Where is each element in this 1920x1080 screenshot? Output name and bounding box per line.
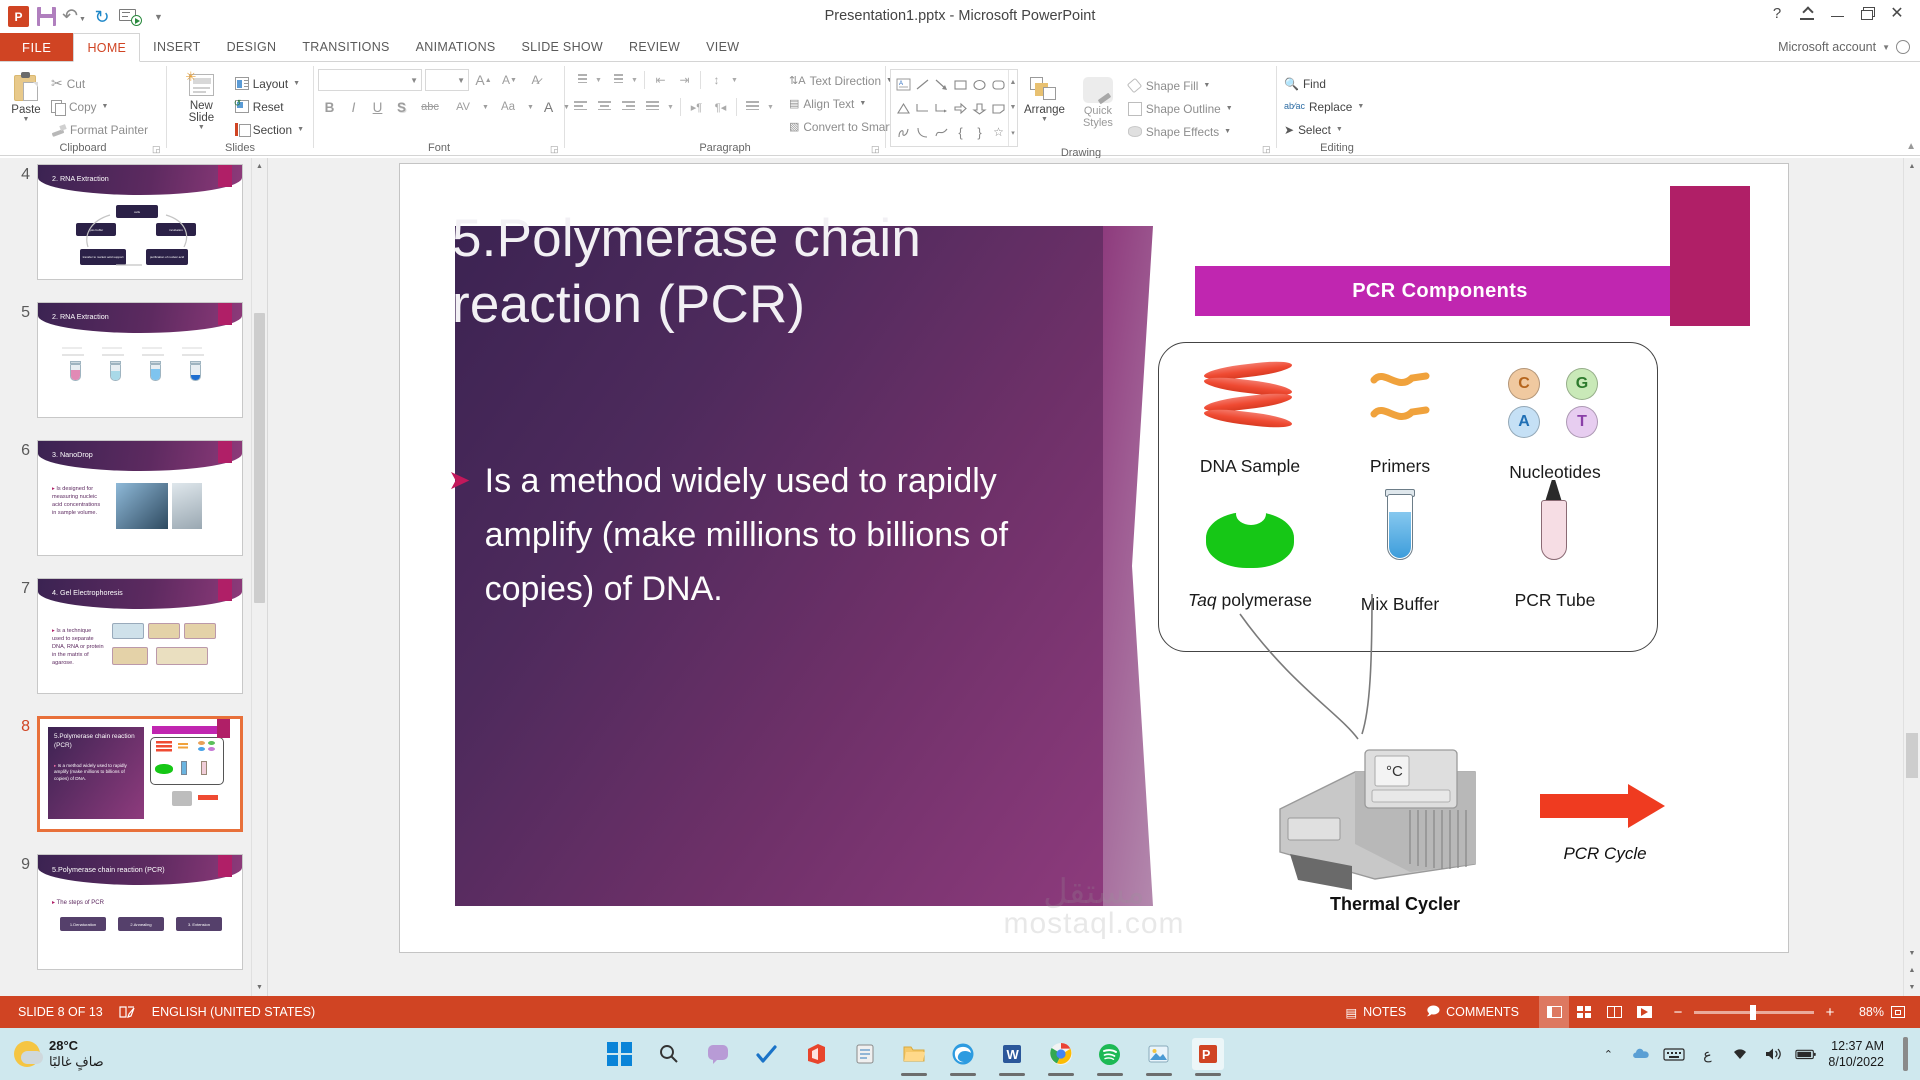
taskbar: 28°C صافٍ غالبًا [0,1028,1920,1080]
comments-label: COMMENTS [1446,1005,1519,1019]
notes-icon: ▤ [1345,1005,1357,1020]
shape-fill-label: Shape Fill [1146,79,1198,93]
comments-button[interactable]: 🗩 COMMENTS [1416,996,1529,1028]
slide-number: 7 [8,578,30,598]
normal-view-button[interactable] [1539,996,1569,1028]
step-box: 2.Annealing [118,917,164,931]
grow-font-button[interactable]: A▲ [472,69,495,91]
language-indicator[interactable]: ع [1696,1043,1718,1065]
slide-thumbnail[interactable]: 5.Polymerase chain reaction (PCR) ▸ The … [37,854,243,970]
copy-icon [51,100,65,114]
thermal-cycler-label: Thermal Cycler [1260,894,1530,915]
chevron-down-icon: ▼ [457,76,465,85]
quick-styles-icon [1083,77,1113,103]
proofing-icon[interactable] [113,996,142,1028]
thumbnail-row[interactable]: 9 5.Polymerase chain reaction (PCR) ▸ Th… [0,854,251,970]
shape-effects-icon [1128,126,1142,137]
thumbnail-row[interactable]: 8 5.Polymerase chain reaction (PCR) ▸ Is… [0,716,251,832]
shapes-gallery-scrollbar[interactable]: ▲ ▼ ▾ [1008,70,1017,146]
reset-button[interactable]: ↺ Reset [232,95,309,118]
scroll-up-icon[interactable]: ▲ [1904,158,1920,175]
slide-number: 6 [8,440,30,460]
find-label: Find [1303,77,1326,91]
section-label: Section [253,123,292,137]
elbow-arrow-connector-shape[interactable] [932,96,951,120]
shape-fill-button[interactable]: Shape Fill ▼ [1125,74,1238,97]
left-to-right-icon[interactable]: ▸¶ [685,96,708,118]
onedrive-icon[interactable] [1630,1043,1652,1065]
chevron-down-icon: ▼ [198,124,205,131]
chevron-down-icon: ▼ [410,76,418,85]
layout-button[interactable]: Layout ▼ [232,72,309,95]
chevron-down-icon: ▼ [293,80,300,87]
copy-label: Copy [69,100,97,114]
sticky-notes-icon[interactable] [849,1038,881,1070]
chevron-down-icon: ▼ [859,100,866,107]
thumbnail-bullet: ▸ Is designed for measuring nucleic acid… [52,485,106,517]
paste-button[interactable]: Paste ▼ [4,66,48,123]
zoom-control[interactable]: − + 88% [1659,1004,1884,1021]
copy-button[interactable]: Copy ▼ [48,95,153,118]
chevron-down-icon: ▼ [1357,103,1364,110]
title-bar: P ↶▼ ↻ ▼ Presentation1.pptx - Microsoft … [0,0,1920,33]
system-tray: ⌃ ع 12:37 AM 8/10/2022 [1597,1037,1920,1071]
step-box: 3. Extension [176,917,222,931]
arrow-bullet-icon: ➤ [448,454,471,616]
chevron-down-icon[interactable]: ▼ [525,96,536,118]
ribbon-group-paragraph: ▼ ▼ ⇤ ⇥ ↕ ▼ ▼ [565,62,885,156]
chevron-down-icon: ▼ [1226,105,1233,112]
font-dialog-launcher[interactable]: ◲ [550,144,561,155]
zoom-slider-handle[interactable] [1750,1005,1756,1020]
arrange-icon [1030,77,1058,102]
search-icon[interactable] [653,1038,685,1070]
bullets-icon[interactable] [569,69,592,91]
reading-view-icon [1607,1006,1622,1018]
scroll-down-icon[interactable]: ▼ [252,979,267,996]
slide-bullet-text: Is a method widely used to rapidly ampli… [485,454,1048,616]
help-icon[interactable]: ? [1762,0,1792,26]
ribbon-group-clipboard: Paste ▼ ✂ Cut Copy ▼ Format Pai [0,62,166,156]
windows-start-icon[interactable] [604,1038,636,1070]
powerpoint-icon[interactable]: P [1192,1038,1224,1070]
office-icon[interactable] [800,1038,832,1070]
italic-button[interactable]: I [342,96,365,118]
slide-show-icon [1637,1006,1652,1018]
chevron-down-icon[interactable]: ▼ [765,96,776,118]
tab-insert[interactable]: INSERT [140,33,213,61]
slide-title[interactable]: 5.Polymerase chain reaction (PCR) [452,206,1012,338]
account-menu[interactable]: Microsoft account ▼ [1778,33,1920,61]
drawing-dialog-launcher[interactable]: ◲ [1262,144,1273,155]
current-slide[interactable]: 5.Polymerase chain reaction (PCR) ➤ Is a… [399,163,1789,953]
text-box-shape[interactable]: A [894,72,913,96]
google-chrome-icon[interactable] [1045,1038,1077,1070]
save-icon[interactable] [33,4,59,30]
font-group-title: Font [314,142,564,156]
file-explorer-icon[interactable] [898,1038,930,1070]
scroll-up-icon[interactable]: ▲ [252,158,267,175]
thumbnail-row[interactable]: 4 2. RNA Extraction cells lysis buffer i… [0,164,251,280]
text-direction-icon: ⇅A [789,74,806,87]
tab-slide-show[interactable]: SLIDE SHOW [509,33,617,61]
down-arrow-shape[interactable] [970,96,989,120]
clipboard-dialog-launcher[interactable]: ◲ [152,144,163,155]
scroll-up-icon[interactable]: ▲ [1009,70,1017,95]
triangle-shape[interactable] [894,96,913,120]
thumbnail-bullet: ▸ Is a technique used to separate DNA, R… [52,627,104,667]
status-bar-right: ▤ NOTES 🗩 COMMENTS − + 88% [1335,996,1912,1028]
strikethrough-button[interactable]: abc [414,96,446,118]
thumbnail-bullet: ▸ The steps of PCR [52,899,172,907]
star-shape[interactable]: ☆ [989,120,1008,144]
step-box: 1.Denaturation [60,917,106,931]
slide-thumbnail[interactable]: 2. RNA Extraction cells lysis buffer inc… [37,164,243,280]
paste-icon [12,72,40,102]
notification-center-icon[interactable] [1903,1037,1908,1071]
chevron-down-icon: ▼ [102,103,109,110]
scrollbar-thumb[interactable] [1906,733,1918,778]
redo-icon[interactable]: ↻ [89,4,115,30]
clock-date: 8/10/2022 [1828,1054,1884,1070]
shape-effects-button[interactable]: Shape Effects ▼ [1125,120,1238,143]
photos-icon[interactable] [1143,1038,1175,1070]
new-slide-icon: ✳ [186,72,216,98]
weather-temperature: 28°C [49,1038,104,1054]
ribbon-tabs: FILE HOME INSERT DESIGN TRANSITIONS ANIM… [0,33,1920,61]
left-brace-shape[interactable]: { [951,120,970,144]
quick-styles-button[interactable]: Quick Styles [1071,69,1125,129]
ribbon-group-slides: ✳ New Slide ▼ Layout ▼ ↺ Reset [167,62,313,156]
align-text-icon: ▤ [789,97,799,110]
powerpoint-logo-icon[interactable]: P [5,4,31,30]
slide-number: 5 [8,302,30,322]
undo-icon[interactable]: ↶▼ [61,4,87,30]
shape-effects-label: Shape Effects [1146,125,1219,139]
replace-button[interactable]: ab⁄ac Replace ▼ [1281,95,1369,118]
align-center-icon[interactable] [593,96,616,118]
replace-icon: ab⁄ac [1284,102,1305,111]
zoom-in-button[interactable]: + [1823,1004,1837,1021]
thumbnail-bullet: ▸ Is a method widely used to rapidly amp… [54,763,134,782]
format-painter-label: Format Painter [70,123,148,137]
scribble-shape[interactable] [894,120,913,144]
slide-vertical-scrollbar[interactable]: ▲ ▼ ▲ ▼ [1903,158,1920,996]
section-icon [235,123,249,136]
layout-label: Layout [253,77,288,91]
slide-body[interactable]: ➤ Is a method widely used to rapidly amp… [448,454,1048,616]
scroll-down-icon[interactable]: ▼ [1009,95,1017,120]
shape-outline-icon [1128,102,1142,116]
layout-icon [235,77,249,90]
restore-icon[interactable] [1852,0,1882,26]
normal-view-icon [1547,1006,1562,1018]
slide-editing-area: 5.Polymerase chain reaction (PCR) ➤ Is a… [268,158,1920,996]
format-painter-icon [51,123,66,137]
shrink-font-button[interactable]: A▼ [498,69,521,91]
thumbnail-title: 5.Polymerase chain reaction (PCR) [52,865,165,874]
reading-view-button[interactable] [1599,996,1629,1028]
tab-design[interactable]: DESIGN [214,33,290,61]
slide-counter: SLIDE 8 OF 13 [8,996,113,1028]
taskbar-apps: W P [230,1038,1597,1070]
quick-access-toolbar: P ↶▼ ↻ ▼ [0,0,171,33]
chevron-down-icon[interactable]: ▼ [480,96,491,118]
slide-show-button[interactable] [1629,996,1659,1028]
language-status[interactable]: ENGLISH (UNITED STATES) [142,996,325,1028]
tab-home[interactable]: HOME [73,33,140,62]
weather-description: صافٍ غالبًا [49,1054,104,1070]
svg-text:W: W [1006,1047,1019,1062]
cursor-icon: ➤ [1284,123,1294,137]
align-left-icon[interactable] [569,96,592,118]
thumbnail-row[interactable]: 6 3. NanoDrop ▸ Is designed for measurin… [0,440,251,556]
chevron-down-icon[interactable]: ▼ [665,96,676,118]
right-arrow-shape[interactable] [951,96,970,120]
arc-shape[interactable] [913,120,932,144]
shape-outline-label: Shape Outline [1146,102,1221,116]
reset-icon: ↺ [235,100,249,113]
chevron-down-icon: ▼ [1336,126,1343,133]
account-avatar-icon [1896,40,1910,54]
shape-fill-icon [1128,79,1142,93]
change-case-button[interactable]: Aa [492,96,524,118]
paste-label: Paste [11,104,40,116]
quick-styles-label: Quick Styles [1077,105,1119,129]
previous-slide-icon[interactable]: ▲ [1904,962,1920,979]
format-painter-button[interactable]: Format Painter [48,118,153,141]
font-size-input[interactable]: ▼ [425,69,469,91]
cut-button[interactable]: ✂ Cut [48,72,153,95]
slide-sorter-view-button[interactable] [1569,996,1599,1028]
pcr-cycle-arrow-icon [1540,784,1665,828]
comments-icon: 🗩 [1426,1002,1440,1023]
word-icon[interactable]: W [996,1038,1028,1070]
arrange-button[interactable]: Arrange ▼ [1018,69,1071,123]
oval-shape[interactable] [970,72,989,96]
underline-button[interactable]: U [366,96,389,118]
rectangle-shape[interactable] [951,72,970,96]
shapes-more-icon[interactable]: ▾ [1009,121,1017,146]
microsoft-edge-icon[interactable] [947,1038,979,1070]
tab-view[interactable]: VIEW [693,33,752,61]
curve-shape[interactable] [932,120,951,144]
chevron-down-icon: ▼ [297,126,304,133]
thumbnail-title: 4. Gel Electrophoresis [52,588,123,597]
ribbon-group-editing: 🔍 Find ab⁄ac Replace ▼ ➤ Select ▼ Edit [1277,62,1397,156]
slide-thumbnail[interactable]: 4. Gel Electrophoresis ▸ Is a technique … [37,578,243,694]
volume-icon[interactable] [1762,1043,1784,1065]
clock[interactable]: 12:37 AM 8/10/2022 [1828,1038,1888,1070]
chat-icon[interactable] [702,1038,734,1070]
shapes-gallery[interactable]: A { [890,69,1018,147]
thumbnail-title: 5.Polymerase chain reaction (PCR) [54,733,138,750]
thumbnail-title: 3. NanoDrop [52,450,93,459]
editing-group-title: Editing [1277,142,1397,156]
ribbon: Paste ▼ ✂ Cut Copy ▼ Format Pai [0,61,1920,156]
new-slide-label: New Slide [177,100,226,124]
paragraph-group-title: Paragraph [565,142,885,156]
text-direction-label: Text Direction [810,74,881,88]
chevron-down-icon: ▼ [1203,82,1210,89]
align-text-label: Align Text [803,97,854,111]
line-spacing-icon[interactable]: ↕ [705,69,728,91]
pcr-cycle-label: PCR Cycle [1535,844,1675,864]
folded-corner-shape[interactable] [989,96,1008,120]
slides-group-title: Slides [167,142,313,156]
tab-file[interactable]: FILE [0,33,73,61]
slide-thumbnail-pane: 4 2. RNA Extraction cells lysis buffer i… [0,158,268,996]
scissors-icon: ✂ [51,75,63,92]
notes-button[interactable]: ▤ NOTES [1335,996,1416,1028]
right-brace-shape[interactable]: } [970,120,989,144]
workspace: 4 2. RNA Extraction cells lysis buffer i… [0,158,1920,996]
zoom-slider[interactable] [1694,1011,1814,1014]
spotify-icon[interactable] [1094,1038,1126,1070]
chevron-down-icon[interactable]: ▼ [629,69,640,91]
zoom-out-button[interactable]: − [1671,1004,1685,1021]
slide-number: 4 [8,164,30,184]
increase-indent-icon[interactable]: ⇥ [673,69,696,91]
select-button[interactable]: ➤ Select ▼ [1281,118,1369,141]
font-color-button[interactable]: A [537,96,560,118]
window-title: Presentation1.pptx - Microsoft PowerPoin… [0,8,1920,24]
thermal-cycler-icon: °C [1260,714,1530,904]
fit-slide-to-window-button[interactable] [1884,996,1912,1028]
arrange-label: Arrange [1024,104,1065,116]
smartart-icon: ▧ [789,120,799,133]
chevron-down-icon[interactable]: ▼ [729,69,740,91]
weather-widget[interactable]: 28°C صافٍ غالبًا [0,1038,230,1070]
chevron-down-icon: ▼ [1882,43,1890,52]
svg-text:A: A [899,81,903,87]
align-right-icon[interactable] [617,96,640,118]
decrease-indent-icon[interactable]: ⇤ [649,69,672,91]
scrollbar-thumb[interactable] [254,313,265,603]
replace-label: Replace [1309,100,1352,114]
battery-icon[interactable] [1795,1043,1817,1065]
next-slide-icon[interactable]: ▼ [1904,979,1920,996]
slide-thumbnail[interactable]: 2. RNA Extraction [37,302,243,418]
pink-accent-block [1670,186,1750,326]
slide-sorter-icon [1577,1006,1592,1018]
character-spacing-button[interactable]: AV [447,96,479,118]
columns-icon[interactable] [741,96,764,118]
clear-formatting-icon[interactable]: A̷ [524,69,547,91]
clock-time: 12:37 AM [1828,1038,1884,1054]
tasks-icon[interactable] [751,1038,783,1070]
rounded-rectangle-shape[interactable] [989,72,1008,96]
notes-label: NOTES [1363,1005,1406,1019]
start-from-beginning-icon[interactable] [117,4,143,30]
show-hidden-icons-icon[interactable]: ⌃ [1597,1043,1619,1065]
section-button[interactable]: Section ▼ [232,118,309,141]
keyboard-icon[interactable] [1663,1043,1685,1065]
ribbon-group-drawing: A { [886,62,1276,156]
thumbnail-row[interactable]: 7 4. Gel Electrophoresis ▸ Is a techniqu… [0,578,251,694]
find-button[interactable]: 🔍 Find [1281,72,1369,95]
font-name-input[interactable]: ▼ [318,69,422,91]
slide-thumbnail-selected[interactable]: 5.Polymerase chain reaction (PCR) ▸ Is a… [37,716,243,832]
cut-label: Cut [67,77,85,91]
new-slide-button[interactable]: ✳ New Slide ▼ [171,66,232,131]
tab-animations[interactable]: ANIMATIONS [403,33,509,61]
arrow-line-shape[interactable] [932,72,951,96]
tab-transitions[interactable]: TRANSITIONS [289,33,402,61]
account-label: Microsoft account [1778,40,1876,54]
svg-text:°C: °C [1386,763,1403,780]
thumbnail-row[interactable]: 5 2. RNA Extraction [0,302,251,418]
zoom-level: 88% [1846,1005,1884,1019]
wifi-icon[interactable] [1729,1043,1751,1065]
find-icon: 🔍 [1284,77,1299,91]
slide-thumbnail-list: 4 2. RNA Extraction cells lysis buffer i… [0,158,251,996]
status-bar: SLIDE 8 OF 13 ENGLISH (UNITED STATES) ▤ … [0,996,1920,1028]
justify-icon[interactable] [641,96,664,118]
ribbon-group-font: ▼ ▼ A▲ A▼ A̷ B I U S abc AV [314,62,564,156]
elbow-connector-shape[interactable] [913,96,932,120]
chevron-down-icon[interactable]: ▼ [593,69,604,91]
line-shape[interactable] [913,72,932,96]
shape-outline-button[interactable]: Shape Outline ▼ [1125,97,1238,120]
right-to-left-icon[interactable]: ¶◂ [709,96,732,118]
powerpoint-window: P ↶▼ ↻ ▼ Presentation1.pptx - Microsoft … [0,0,1920,1080]
pcr-components-graphic[interactable]: PCR Components DNA Sample [1140,194,1750,934]
numbering-icon[interactable] [605,69,628,91]
select-label: Select [1298,123,1331,137]
tab-review[interactable]: REVIEW [616,33,693,61]
chevron-down-icon: ▼ [1224,128,1231,135]
scroll-down-icon[interactable]: ▼ [1904,945,1920,962]
clipboard-group-title: Clipboard [0,142,166,156]
window-controls: ? ✕ [1762,0,1920,33]
thumbnail-scrollbar[interactable]: ▲ ▼ [251,158,267,996]
slide-thumbnail[interactable]: 3. NanoDrop ▸ Is designed for measuring … [37,440,243,556]
minimize-icon[interactable] [1822,0,1852,26]
chevron-down-icon: ▼ [23,116,30,123]
slide-number: 9 [8,854,30,874]
bold-button[interactable]: B [318,96,341,118]
ribbon-display-options-icon[interactable] [1792,0,1822,26]
collapse-ribbon-icon[interactable]: ▲ [1906,141,1916,152]
customize-quick-access-toolbar-icon[interactable]: ▼ [145,4,171,30]
close-icon[interactable]: ✕ [1882,0,1912,26]
chevron-down-icon: ▼ [1041,116,1048,123]
reset-label: Reset [253,100,284,114]
text-shadow-button[interactable]: S [390,96,413,118]
slide-number: 8 [8,716,30,736]
svg-text:P: P [1202,1048,1210,1062]
weather-icon [14,1041,40,1067]
fit-to-window-icon [1891,1006,1905,1018]
paragraph-dialog-launcher[interactable]: ◲ [871,144,882,155]
